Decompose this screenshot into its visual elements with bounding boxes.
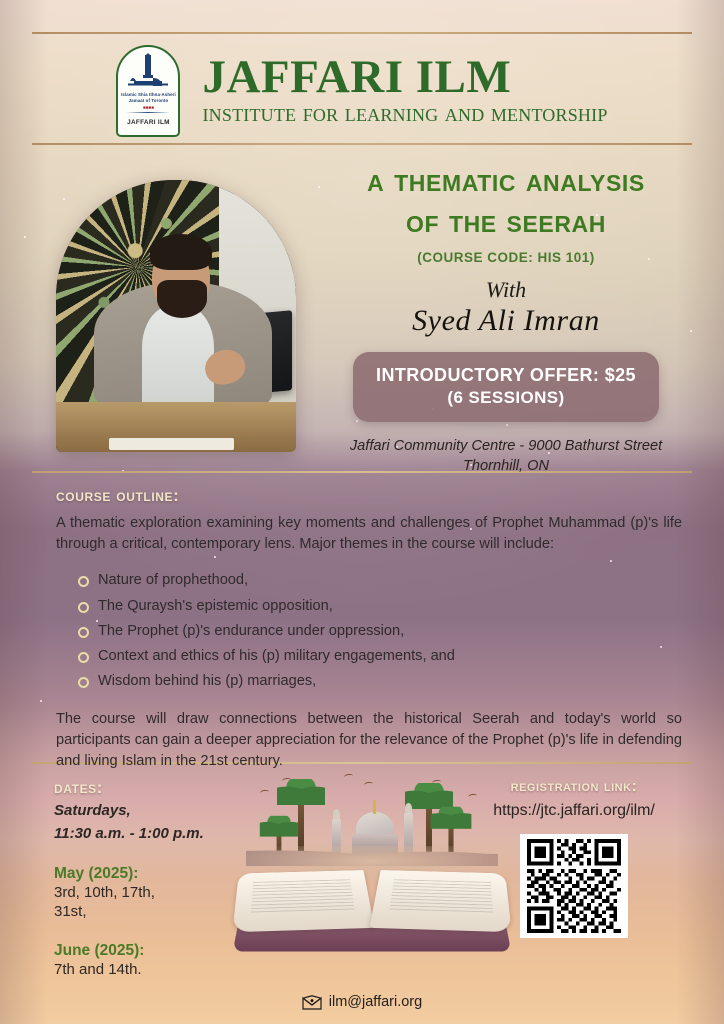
poster-header: Islamic Shia Ithna-AsheriJamaat of Toron… [0,45,724,137]
month-label-may: May (2025): [54,865,284,883]
month-label-june: June (2025): [54,942,284,960]
dates-section: Dates: Saturdays, 11:30 a.m. - 1:00 p.m.… [54,778,284,980]
registration-qr-code[interactable] [520,834,628,938]
speaker-photo [56,180,296,452]
themes-list: Nature of prophethood, The Quraysh's epi… [78,570,682,692]
mosque-minaret-logo-icon [122,53,174,91]
speaker-hair [150,234,212,270]
envelope-icon [302,995,322,1010]
list-item: Nature of prophethood, [78,570,682,591]
registration-heading: Registration link: [452,778,696,796]
schedule-line-1: Saturdays, [54,801,284,821]
offer-line-2: (6 Sessions) [363,387,649,409]
month-days-may-line2: 31st, [54,902,284,922]
month-days-june-line1: 7th and 14th. [54,960,284,980]
list-item: The Prophet (p)'s endurance under oppres… [78,621,682,642]
divider-top [32,32,692,34]
venue-line-1: Jaffari Community Centre - 9000 Bathurst… [306,436,706,456]
speaker-name: Syed Ali Imran [306,304,706,338]
list-item: The Quraysh's epistemic opposition, [78,596,682,617]
list-item: Wisdom behind his (p) marriages, [78,671,682,692]
venue-block: Jaffari Community Centre - 9000 Bathurst… [306,436,706,476]
logo-wordmark: JAFFARI ILM [118,119,178,126]
with-label: With [306,277,706,303]
course-title-line1: A Thematic Analysis [306,160,706,201]
dates-heading: Dates: [54,778,284,798]
introductory-offer-badge: Introductory Offer: $25 (6 Sessions) [353,352,659,422]
course-outline-section: Course Outline: A thematic exploration e… [56,486,682,771]
brand-title: JAFFARI ILM [202,54,607,100]
divider-under-header [32,143,692,145]
speaker-beard [157,280,207,318]
brand-subtitle: Institute for Learning and Mentorship [202,100,607,129]
footer-email[interactable]: ilm@jaffari.org [329,994,422,1010]
desk [56,402,296,452]
course-code: (Course Code: HIS 101) [306,250,706,265]
logo-underline [126,112,170,113]
course-title-line2: of the Seerah [306,201,706,242]
course-outline-heading: Course Outline: [56,486,682,506]
schedule-line-2: 11:30 a.m. - 1:00 p.m. [54,824,284,844]
venue-line-2: Thornhill, ON [306,456,706,476]
speaker-thobe [142,306,214,410]
logo-arabic-caption: Islamic Shia Ithna-AsheriJamaat of Toron… [121,92,176,111]
registration-section: Registration link: https://jtc.jaffari.o… [452,778,696,938]
course-outline-closing: The course will draw connections between… [56,709,682,771]
brand-block: JAFFARI ILM Institute for Learning and M… [202,54,607,129]
footer-contact: ilm@jaffari.org [0,994,724,1010]
offer-line-1: Introductory Offer: $25 [363,364,649,387]
registration-url[interactable]: https://jtc.jaffari.org/ilm/ [452,802,696,820]
qr-code-icon [525,839,623,933]
course-outline-intro: A thematic exploration examining key mom… [56,513,682,554]
hero-text-block: A Thematic Analysis of the Seerah (Cours… [306,160,706,476]
month-days-may-line1: 3rd, 10th, 17th, [54,883,284,903]
course-title: A Thematic Analysis of the Seerah [306,160,706,242]
list-item: Context and ethics of his (p) military e… [78,646,682,667]
poster-canvas: Islamic Shia Ithna-AsheriJamaat of Toron… [0,0,724,1024]
jaffari-ilm-logo: Islamic Shia Ithna-AsheriJamaat of Toron… [116,45,180,137]
